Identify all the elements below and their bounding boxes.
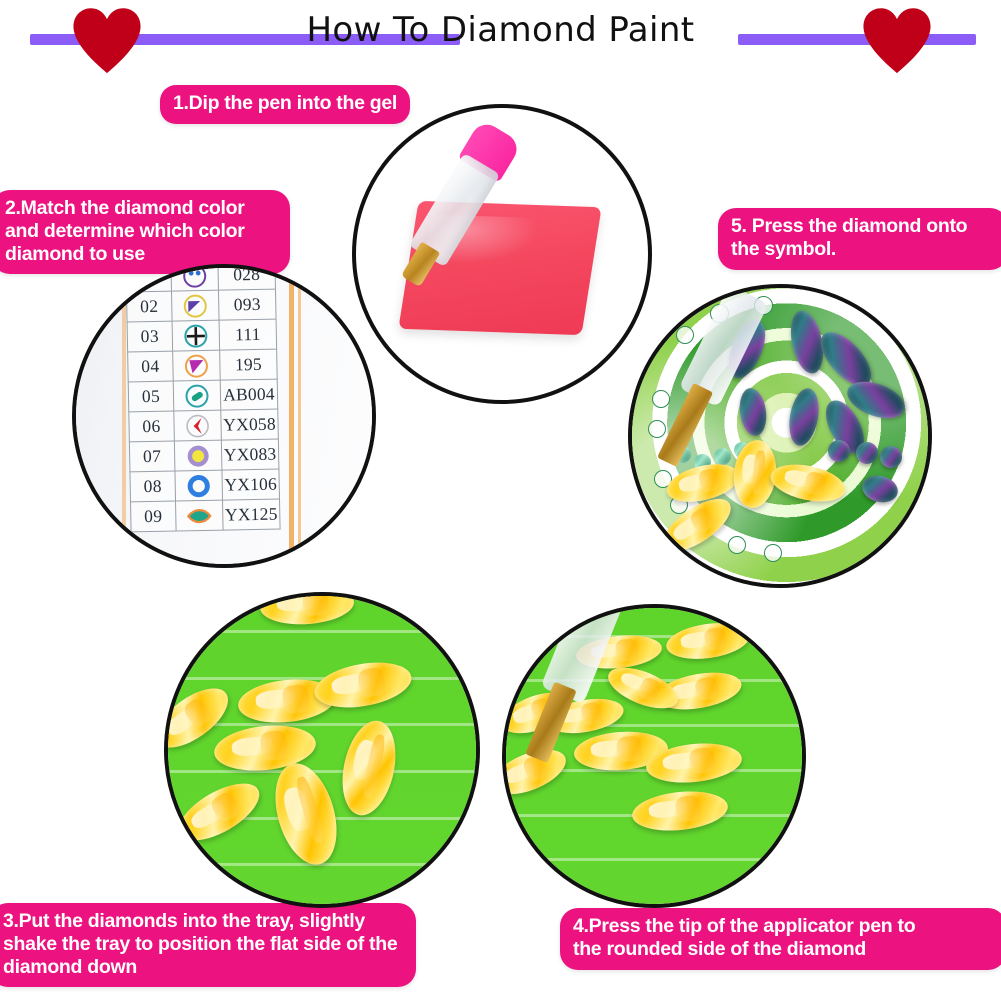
step-2-line-2: and determine which color (5, 220, 277, 243)
row-code: YX106 (222, 469, 280, 500)
teal-capsule-in-circle-icon (184, 382, 210, 408)
step-3-line-1: 3.Put the diamonds into the tray, slight… (3, 910, 403, 933)
diamond-tray-photo (164, 592, 480, 908)
chart-margin-line (289, 264, 294, 568)
row-code: YX058 (221, 409, 279, 440)
row-symbol (172, 320, 220, 351)
step-2-line-1: 2.Match the diamond color (5, 197, 277, 220)
purple-circle-two-dots-icon (181, 264, 207, 289)
table-row: 04 195 (128, 349, 278, 382)
step-2-label: 2.Match the diamond color and determine … (0, 190, 290, 274)
yellow-gem (664, 618, 752, 663)
step-5-label: 5. Press the diamond onto the symbol. (718, 208, 1001, 270)
infographic-canvas: How To Diamond Paint 1.Dip the pen into … (0, 0, 1001, 1001)
plus-in-teal-circle-icon (183, 322, 209, 348)
table-row: 02 093 (126, 289, 276, 322)
color-chart-photo: 028 02 093 03 (76, 268, 372, 564)
magenta-triangle-in-orange-circle-icon (183, 352, 209, 378)
purple-triangle-in-yellow-circle-icon (182, 292, 208, 318)
row-number: 03 (127, 321, 173, 352)
step-2-line-3: diamond to use (5, 243, 277, 266)
table-row: 03 111 (127, 319, 277, 352)
color-chart-table: 028 02 093 03 (125, 264, 280, 532)
chart-margin-line (298, 264, 301, 568)
step-3-line-3: diamond down (3, 956, 403, 979)
row-code: 093 (218, 289, 276, 320)
pen-tip (401, 242, 440, 288)
step-4-line-1: 4.Press the tip of the applicator pen to (573, 915, 993, 938)
blue-ring-icon (185, 472, 211, 498)
step-4-line-2: the rounded side of the diamond (573, 938, 993, 961)
row-symbol (171, 264, 219, 291)
table-row: 07 YX083 (129, 439, 279, 472)
row-code: YX125 (223, 499, 281, 530)
row-number: 05 (128, 381, 174, 412)
table-row: 06 YX058 (129, 409, 279, 442)
yellow-gem (630, 787, 729, 835)
row-number: 09 (131, 501, 177, 532)
row-number: 02 (126, 291, 172, 322)
table-row: 08 YX106 (130, 469, 280, 502)
diamond-canvas-photo (628, 284, 932, 588)
row-symbol (173, 380, 221, 411)
row-number: 06 (129, 411, 175, 442)
yellow-gem (170, 772, 268, 852)
row-number: 04 (128, 351, 174, 382)
step-5-line-1: 5. Press the diamond onto (731, 215, 995, 238)
row-symbol (171, 290, 219, 321)
gel-photo (356, 108, 648, 400)
yellow-gem (258, 592, 354, 627)
row-symbol (174, 440, 222, 471)
red-arrow-left-in-circle-icon (184, 412, 210, 438)
table-row: 05 AB004 (128, 379, 278, 412)
row-symbol (176, 500, 224, 531)
row-code: 028 (218, 264, 276, 290)
row-code: 195 (220, 349, 278, 380)
step-4-label: 4.Press the tip of the applicator pen to… (560, 908, 1001, 970)
pen-pickup-photo (502, 604, 806, 908)
yellow-gem (264, 756, 346, 871)
step-5-image (628, 284, 932, 588)
table-row: 09 YX125 (131, 499, 281, 532)
row-symbol (173, 350, 221, 381)
page-title: How To Diamond Paint (0, 10, 1001, 50)
step-3-image (164, 592, 480, 908)
step-1-image (352, 104, 652, 404)
teal-leaf-orange-outline-icon (186, 502, 212, 528)
row-code: YX083 (221, 439, 279, 470)
row-number (126, 264, 172, 292)
step-2-image: 028 02 093 03 (72, 264, 376, 568)
row-number: 07 (129, 441, 175, 472)
row-symbol (175, 470, 223, 501)
row-code: 111 (219, 319, 277, 350)
table-row: 028 (126, 264, 276, 292)
pen-tip (526, 681, 577, 762)
step-5-line-2: the symbol. (731, 238, 995, 261)
row-number: 08 (130, 471, 176, 502)
step-3-line-2: shake the tray to position the flat side… (3, 933, 403, 956)
row-code: AB004 (220, 379, 278, 410)
step-4-image (502, 604, 806, 908)
yellow-gem (334, 716, 403, 820)
yellow-dot-in-purple-ring-icon (185, 442, 211, 468)
row-symbol (174, 410, 222, 441)
step-3-label: 3.Put the diamonds into the tray, slight… (0, 903, 416, 987)
